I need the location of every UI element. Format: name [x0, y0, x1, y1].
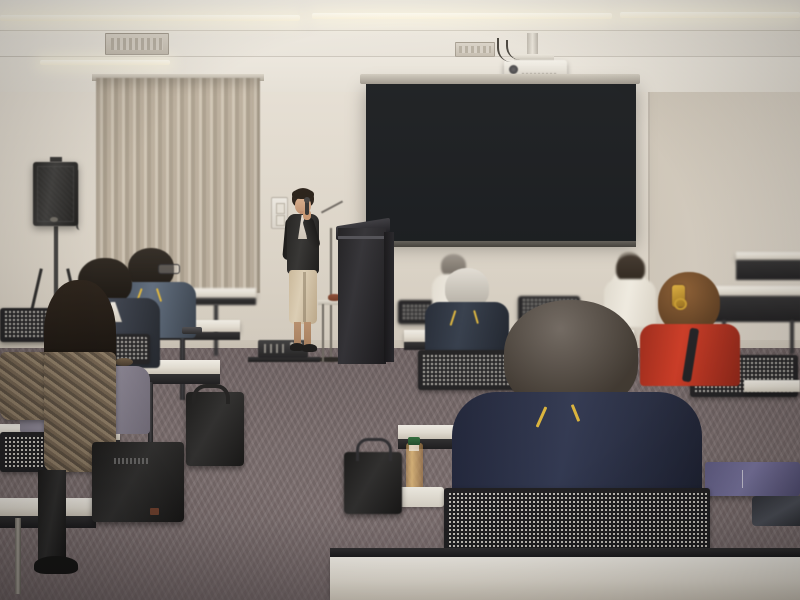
lectern — [338, 228, 386, 364]
glasses-icon — [158, 264, 180, 274]
backpack — [186, 392, 244, 466]
presenter — [281, 188, 325, 360]
ceiling-vent — [105, 33, 169, 55]
seminar-room-photo: 保険料 保険 給付 生命保険は 相互扶助 — [0, 0, 800, 600]
device — [182, 327, 202, 334]
shoe — [34, 556, 78, 574]
ceiling-light-strip — [312, 13, 612, 19]
chair-leg — [15, 518, 21, 594]
desk — [330, 556, 800, 600]
tote-bag — [344, 452, 402, 514]
handheld-microphone[interactable] — [305, 200, 309, 215]
screen-case — [360, 74, 640, 84]
ceiling-vent — [455, 42, 495, 57]
bottle-cap — [408, 437, 420, 445]
attendee-legs — [38, 470, 66, 566]
ceiling-light-strip — [620, 12, 800, 18]
presenter-fringe — [292, 189, 314, 199]
black-case — [752, 496, 800, 526]
desk — [736, 252, 800, 260]
projector-lens-icon — [509, 65, 518, 74]
white-towel — [398, 487, 444, 507]
presenter-shoe — [302, 344, 317, 352]
black-bag — [92, 442, 184, 522]
ceiling-light-strip — [0, 15, 300, 21]
screen-bottom-bar — [366, 241, 636, 247]
desk — [744, 380, 800, 392]
ceiling-light-strip — [40, 60, 170, 65]
chair[interactable] — [444, 488, 710, 552]
pa-speaker — [33, 162, 78, 226]
projection-screen — [366, 82, 636, 241]
purple-folder — [705, 462, 800, 496]
